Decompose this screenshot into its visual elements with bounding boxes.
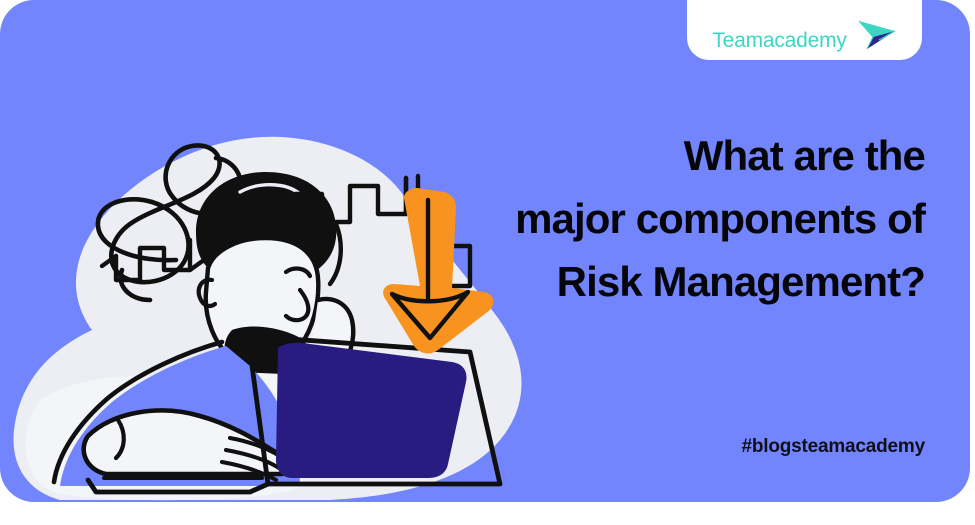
headline-line-1: What are the	[365, 124, 925, 187]
hashtag-label: #blogsteamacademy	[741, 436, 925, 458]
brand-name: Teamacademy	[712, 30, 846, 51]
paper-plane-arrow-icon	[857, 17, 897, 51]
headline-line-3: Risk Management?	[365, 250, 925, 313]
headline-line-2: major components of	[365, 187, 925, 250]
poster-canvas: What are the major components of Risk Ma…	[0, 0, 975, 525]
laptop-screen	[276, 343, 466, 478]
page-title: What are the major components of Risk Ma…	[365, 124, 925, 313]
blue-card-background: What are the major components of Risk Ma…	[0, 0, 970, 502]
brand-badge[interactable]: Teamacademy	[687, 0, 922, 60]
